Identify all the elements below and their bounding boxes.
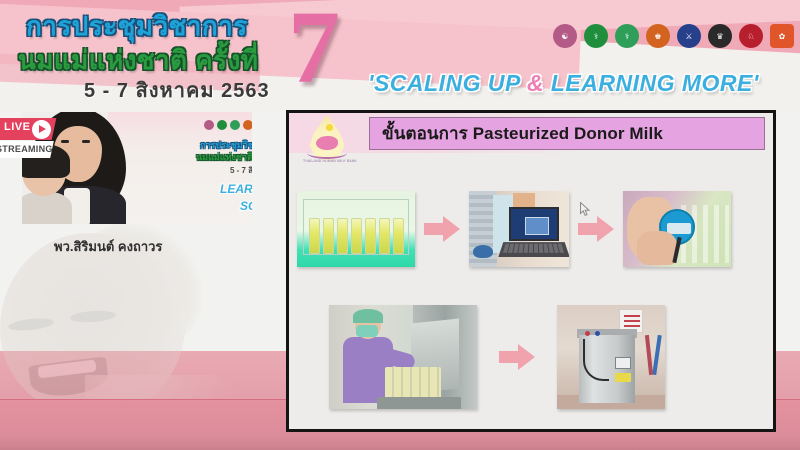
milk-bottle bbox=[393, 218, 404, 254]
arrow-head bbox=[443, 216, 460, 242]
watermark-eye-left bbox=[8, 317, 55, 333]
logo-royal-thai-emblem: ☯ bbox=[553, 24, 577, 48]
human-milk-bank-droplet-logo: THAILAND HUMAN MILK BANK bbox=[297, 114, 355, 168]
slide-title-bar: ขั้นตอนการ Pasteurized Donor Milk bbox=[369, 117, 765, 150]
process-row-2 bbox=[329, 305, 665, 409]
watermark-eye-right bbox=[70, 309, 117, 323]
red-hose bbox=[645, 335, 653, 375]
banner-date: 5 - 7 สิงหาคม 2563 bbox=[84, 74, 270, 106]
banner-edition-number: 7 bbox=[288, 0, 340, 100]
logo-royal-garuda-blue: ⚔ bbox=[677, 24, 701, 48]
pip-logo-row bbox=[204, 120, 252, 130]
presentation-slide[interactable]: THAILAND HUMAN MILK BANK ขั้นตอนการ Past… bbox=[286, 110, 776, 432]
mouse-pointer bbox=[580, 202, 591, 217]
screen: 7 การประชุมวิชาการ นมแม่แห่งชาติ ครั้งที… bbox=[0, 0, 800, 450]
logo-department-health: ⚕ bbox=[615, 24, 639, 48]
photo-handheld-temperature-timer bbox=[623, 191, 731, 267]
picture-in-picture-speaker-feed[interactable]: 7 การประชุมวิชาการ นมแม่แห่งชาติ ครั้งที… bbox=[22, 112, 252, 224]
milk-bottle bbox=[337, 218, 348, 254]
pip-logo-3 bbox=[230, 120, 240, 130]
banner-tagline: 'SCALING UP & LEARNING MORE' bbox=[368, 70, 759, 97]
photo-pasteurizer-machine bbox=[557, 305, 665, 409]
surgical-mask bbox=[356, 325, 378, 337]
pip-date: 5 - 7 สิงหาคม 2563 bbox=[230, 164, 252, 177]
pip-background-banner: 7 การประชุมวิชาการ นมแม่แห่งชาติ ครั้งที… bbox=[108, 112, 252, 224]
conference-banner: 7 การประชุมวิชาการ นมแม่แห่งชาติ ครั้งที… bbox=[0, 0, 800, 112]
logo-red-seal: ♘ bbox=[739, 24, 763, 48]
pip-logo-1 bbox=[204, 120, 214, 130]
milk-bottle bbox=[323, 218, 334, 254]
second-hand bbox=[637, 231, 677, 265]
pip-speaker-eye-right bbox=[82, 140, 90, 143]
droplet-highlight-dot bbox=[326, 124, 333, 131]
tagline-part-2: LEARNING MORE' bbox=[544, 70, 759, 96]
live-label: LIVE bbox=[4, 121, 30, 133]
pip-logo-2 bbox=[217, 120, 227, 130]
logo-black-seal: ♛ bbox=[708, 24, 732, 48]
milk-bottle bbox=[379, 218, 390, 254]
play-triangle-icon bbox=[32, 120, 51, 139]
machine-display-panel bbox=[615, 357, 631, 369]
droplet-hands-arc bbox=[307, 147, 347, 159]
laptop-keyboard bbox=[498, 242, 569, 257]
speaker-name: พว.สิริมนต์ คงถาวร bbox=[54, 236, 162, 257]
logo-caption: THAILAND HUMAN MILK BANK bbox=[301, 159, 359, 163]
pip-tagline-2: SCALING U bbox=[240, 199, 252, 213]
slide-title-text: ขั้นตอนการ Pasteurized Donor Milk bbox=[382, 120, 663, 147]
arrow-head bbox=[518, 344, 535, 370]
tagline-part-1: 'SCALING UP bbox=[368, 70, 527, 96]
milk-bottle bbox=[365, 218, 376, 254]
sponsor-logo-row: ☯ ⚕ ⚕ ♚ ⚔ ♛ ♘ ✿ bbox=[553, 24, 794, 48]
pip-title-line-2: นมแม่แห่งชาติ ครั้งที่ bbox=[196, 150, 252, 164]
milk-bottle bbox=[309, 218, 320, 254]
streaming-label: STREAMING bbox=[0, 144, 53, 154]
photo-laptop-data-logger bbox=[469, 191, 569, 267]
pip-tagline-1: LEARNING MOR bbox=[220, 182, 252, 196]
logo-ministry-public-health-green: ⚕ bbox=[584, 24, 608, 48]
milk-bottle bbox=[351, 218, 362, 254]
control-knob-blue bbox=[595, 331, 600, 336]
arrow-right-icon bbox=[424, 216, 460, 242]
steel-tray bbox=[377, 397, 461, 409]
pip-logo-4 bbox=[243, 120, 252, 130]
arrow-right-icon bbox=[578, 216, 614, 242]
photo-nurse-loading-bottles bbox=[329, 305, 477, 409]
blue-hose bbox=[652, 335, 662, 375]
photo-milk-bottle-rack bbox=[297, 191, 415, 267]
arrow-right-icon bbox=[499, 344, 535, 370]
computer-mouse bbox=[473, 245, 493, 258]
control-knob-red bbox=[585, 331, 590, 336]
machine-yellow-label bbox=[615, 373, 631, 382]
pip-child-body bbox=[22, 192, 72, 224]
laptop-screen bbox=[509, 207, 559, 241]
logo-thaihealth-sss: ✿ bbox=[770, 24, 794, 48]
tagline-ampersand: & bbox=[527, 70, 544, 96]
process-row-1 bbox=[297, 191, 731, 267]
surgical-cap bbox=[353, 309, 383, 323]
live-streaming-badge[interactable]: LIVE STREAMING bbox=[0, 118, 54, 162]
arrow-head bbox=[597, 216, 614, 242]
milk-bottle-tray bbox=[385, 367, 441, 401]
logo-royal-crown-orange: ♚ bbox=[646, 24, 670, 48]
pip-speaker-eye-left bbox=[61, 140, 69, 143]
